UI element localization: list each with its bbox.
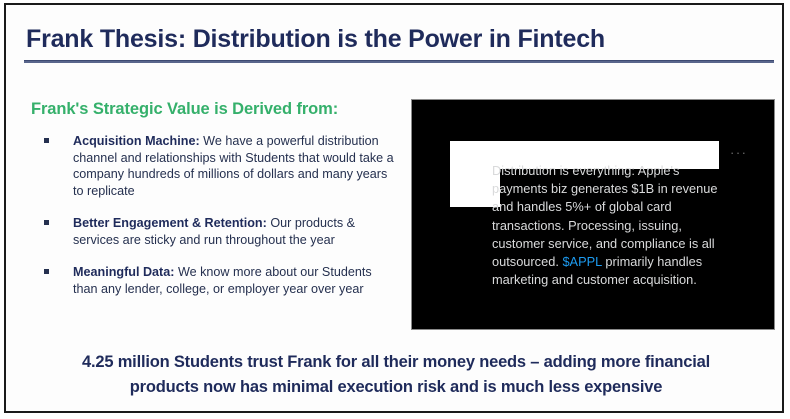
list-item: Acquisition Machine: We have a powerful …	[31, 133, 399, 199]
list-item-lead: Meaningful Data:	[73, 265, 174, 279]
more-options-icon[interactable]: ···	[730, 148, 748, 158]
left-content-column: Frank's Strategic Value is Derived from:…	[31, 100, 399, 313]
square-bullet-icon	[44, 138, 49, 143]
strategic-value-heading: Frank's Strategic Value is Derived from:	[31, 100, 399, 119]
list-item: Better Engagement & Retention: Our produ…	[31, 215, 399, 248]
page-title: Frank Thesis: Distribution is the Power …	[26, 25, 605, 54]
cashtag-link[interactable]: $APPL	[562, 254, 601, 269]
list-item: Meaningful Data: We know more about our …	[31, 264, 399, 297]
strategic-value-list: Acquisition Machine: We have a powerful …	[31, 133, 399, 297]
title-divider	[24, 60, 774, 63]
slide-frame: Frank Thesis: Distribution is the Power …	[4, 3, 784, 413]
tweet-body: Distribution is everything: Apple's paym…	[492, 162, 726, 289]
summary-statement: 4.25 million Students trust Frank for al…	[46, 350, 746, 400]
list-item-lead: Acquisition Machine:	[73, 134, 200, 148]
list-item-lead: Better Engagement & Retention:	[73, 216, 267, 230]
square-bullet-icon	[44, 269, 49, 274]
tweet-screenshot-panel: ··· Distribution is everything: Apple's …	[411, 99, 775, 330]
square-bullet-icon	[44, 220, 49, 225]
